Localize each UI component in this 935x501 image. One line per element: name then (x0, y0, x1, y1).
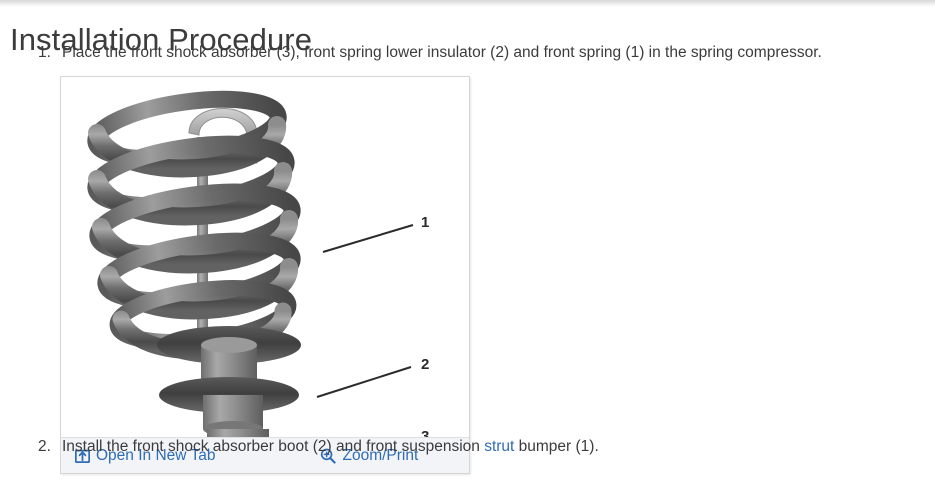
figure-frame: 1 2 3 Open In New Tab (60, 76, 470, 474)
callout-number-1: 1 (421, 214, 429, 231)
step-text-after: bumper (1). (514, 438, 598, 455)
leader-line-1 (323, 225, 413, 252)
step-marker: 2. (38, 436, 51, 457)
coil-spring-strut-drawing: 1 2 3 (61, 77, 469, 437)
figure-illustration: 1 2 3 (61, 77, 469, 437)
callout-number-2: 2 (421, 356, 429, 373)
step-marker: 1. (38, 42, 58, 63)
procedure-list: 1. Place the front shock absorber (3), f… (0, 42, 935, 63)
strut-link[interactable]: strut (484, 438, 514, 455)
step-text: Place the front shock absorber (3), fron… (62, 44, 822, 61)
leader-line-2 (317, 367, 411, 397)
strut-upper-tube-top (201, 337, 257, 353)
page-root: Installation Procedure 1. Place the fron… (0, 0, 935, 501)
procedure-step-2: 2. Install the front shock absorber boot… (0, 436, 935, 457)
step-text-before: Install the front shock absorber boot (2… (62, 438, 484, 455)
procedure-step-1: 1. Place the front shock absorber (3), f… (0, 42, 935, 63)
scroll-shadow (0, 0, 935, 7)
